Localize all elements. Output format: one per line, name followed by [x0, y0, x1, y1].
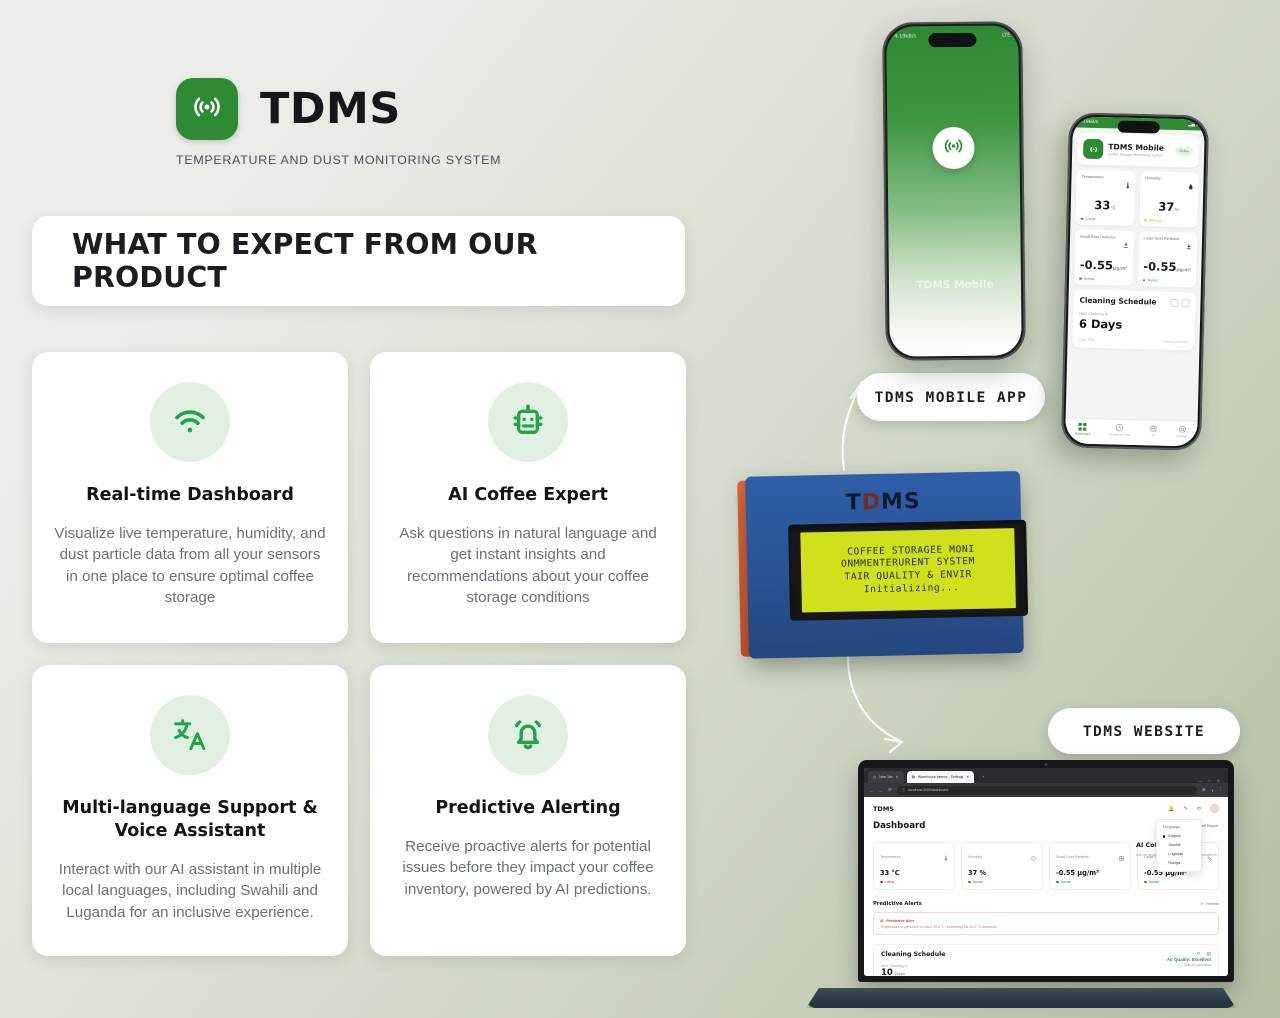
metric-label: Large Dust Particles	[1144, 236, 1180, 241]
window-controls[interactable]: — □ ✕	[1198, 778, 1224, 783]
close-window-icon[interactable]: ✕	[1217, 778, 1220, 783]
feature-title: Real-time Dashboard	[52, 484, 328, 507]
language-option-swahili[interactable]: Swahili	[1157, 841, 1201, 850]
metric-status: Critical	[880, 880, 948, 884]
metric-card-small-dust[interactable]: Small Dust Particles -0.55µg/m³ Normal	[1074, 230, 1134, 286]
statusbar-left: 4.19kB/s	[894, 33, 916, 39]
brand-name: TDMS	[260, 84, 401, 134]
metric-status: Normal	[1079, 277, 1128, 282]
menu-icon[interactable]: ⋮	[1219, 787, 1224, 793]
nav-item-settings[interactable]: Settings	[1176, 425, 1188, 438]
site-cleaning-schedule: Cleaning Schedule Next Cleaning In 10Day…	[873, 944, 1219, 976]
phone-notch	[1118, 121, 1160, 134]
bottom-nav: Dashboard Historical Data AI Settings	[1065, 417, 1198, 446]
alert-detail: Temperature is predicted to reach 35.8 °…	[880, 925, 1212, 929]
language-dropdown-title: Language	[1157, 824, 1201, 832]
tab-label: Warehouse Interior - Settings	[918, 775, 963, 779]
feature-description: Visualize live temperature, humidity, an…	[52, 523, 328, 609]
nav-item-historical-data[interactable]: Historical Data	[1109, 423, 1129, 436]
plus-icon: +	[982, 775, 984, 779]
brand-block: TDMS TEMPERATURE AND DUST MONITORING SYS…	[176, 78, 501, 167]
feature-description: Interact with our AI assistant in multip…	[52, 859, 328, 924]
page-icon: ▤	[912, 775, 915, 779]
bell-alert-icon	[488, 695, 568, 775]
back-icon[interactable]: ←	[869, 788, 874, 793]
phone-mockup-dashboard: 4.19kB/s ▂▄ ▮ TDMS Mobile Coffee Storage…	[1061, 112, 1209, 450]
url-input[interactable]: ⓘ localhost:3000/dashboard	[897, 786, 1197, 795]
dust-icon	[1186, 237, 1192, 255]
hardware-device-mockup: TDMS COFFEE STORAGEE MONI ONMMENTERURENT…	[727, 471, 1024, 659]
metric-status: Normal	[968, 880, 1036, 884]
feature-title: Predictive Alerting	[390, 797, 666, 820]
cleaning-foot-right: Sensors 1/4/2025	[1163, 340, 1188, 345]
feature-description: Receive proactive alerts for potential i…	[390, 836, 666, 901]
metric-label: Small Dust Particles	[1080, 235, 1116, 240]
metric-status: Warning	[1144, 218, 1193, 223]
thermometer-icon	[1125, 176, 1130, 194]
thermometer-icon	[944, 848, 948, 866]
bell-icon[interactable]: 🔔	[1168, 806, 1174, 812]
wifi-icon	[150, 382, 230, 462]
robot-icon	[488, 382, 568, 462]
feature-card-real-time-dashboard[interactable]: Real-time Dashboard Visualize live tempe…	[32, 352, 348, 643]
language-dropdown[interactable]: Language English Swahili Luganda Rukiga	[1156, 819, 1202, 872]
lcd-line-4: Initializing...	[845, 582, 973, 597]
cleaning-days: 10Days	[881, 968, 1123, 976]
browser-tabstrip: ◷ New Tab ✕ ▤ Warehouse Interior - Setti…	[864, 768, 1228, 783]
warning-icon: ⚠	[880, 918, 883, 923]
metric-status: Normal	[1144, 880, 1212, 884]
edit-icon[interactable]	[1181, 299, 1189, 307]
feature-card-multi-language-support[interactable]: Multi-language Support & Voice Assistant…	[32, 665, 348, 956]
site-brand: TDMS	[873, 805, 894, 813]
feature-card-grid: Real-time Dashboard Visualize live tempe…	[32, 352, 686, 956]
maximize-icon[interactable]: □	[1208, 778, 1210, 783]
page-title: WHAT TO EXPECT FROM OUR PRODUCT	[72, 228, 685, 294]
arrow-device-to-website	[830, 650, 930, 765]
language-option-rukiga[interactable]: Rukiga	[1157, 858, 1201, 867]
clock-icon: ◷	[873, 775, 876, 779]
site-metric-humidity[interactable]: Humidity 37 % Normal	[961, 842, 1043, 890]
label-tdms-website: TDMS WEBSITE	[1048, 708, 1240, 754]
feature-card-ai-coffee-expert[interactable]: AI Coffee Expert Ask questions in natura…	[370, 352, 686, 643]
phone-mockup-splash: 4.19kB/s LTE TDMS Mobile	[882, 21, 1026, 360]
new-tab-button[interactable]: +	[977, 771, 989, 783]
profile-icon[interactable]: ◑	[1211, 788, 1214, 793]
nav-label: Dashboard	[1075, 432, 1090, 436]
metric-label: Humidity	[968, 855, 982, 859]
statusbar-left: 4.19kB/s	[1079, 120, 1098, 125]
reload-icon[interactable]: ⟳	[888, 787, 892, 793]
label-tdms-mobile-app: TDMS MOBILE APP	[857, 373, 1045, 421]
laptop-lid: ◷ New Tab ✕ ▤ Warehouse Interior - Setti…	[858, 760, 1234, 982]
phone-splash-screen: 4.19kB/s LTE TDMS Mobile	[886, 25, 1021, 356]
metric-card-large-dust[interactable]: Large Dust Particles -0.55µg/m³ Normal	[1137, 231, 1197, 287]
nav-item-dashboard[interactable]: Dashboard	[1075, 423, 1090, 436]
metric-status: Critical	[1080, 217, 1129, 222]
close-icon[interactable]: ✕	[966, 775, 969, 779]
device-enclosure: TDMS COFFEE STORAGEE MONI ONMMENTERURENT…	[745, 471, 1024, 659]
site-header: TDMS 🔔 ✎ ⟲	[873, 804, 1219, 813]
phone-notch	[928, 33, 976, 48]
metric-value: -0.55 µg/m³	[1056, 869, 1124, 877]
feature-description: Ask questions in natural language and ge…	[390, 523, 666, 609]
brand-subtitle: TEMPERATURE AND DUST MONITORING SYSTEM	[176, 153, 501, 167]
metric-value: 33 °C	[880, 869, 948, 877]
browser-tab-active[interactable]: ▤ Warehouse Interior - Settings ✕	[907, 771, 975, 783]
cleaning-schedule-card[interactable]: Cleaning Schedule Next Cleaning In 6 Day…	[1072, 290, 1195, 351]
lcd-bezel: COFFEE STORAGEE MONI ONMMENTERURENT SYST…	[788, 520, 1028, 621]
feature-card-predictive-alerting[interactable]: Predictive Alerting Receive proactive al…	[370, 665, 686, 956]
tdms-logo-tile	[176, 78, 238, 140]
metric-grid: Temperature 33°C Critical Humidity	[1074, 170, 1199, 288]
language-icon[interactable]: ⟲	[1197, 806, 1201, 812]
droplet-icon	[1031, 848, 1036, 866]
feature-title: AI Coffee Expert	[390, 484, 666, 507]
phone-app-body: TDMS Mobile Coffee Storage Monitoring Sy…	[1067, 127, 1204, 355]
laptop-screen: ◷ New Tab ✕ ▤ Warehouse Interior - Setti…	[864, 768, 1228, 976]
forward-icon[interactable]: →	[879, 788, 884, 793]
section-banner: WHAT TO EXPECT FROM OUR PRODUCT	[32, 216, 685, 306]
signal-broadcast-icon	[942, 134, 964, 161]
avatar[interactable]	[1210, 804, 1219, 813]
splash-app-icon	[932, 127, 974, 169]
minimize-icon[interactable]: —	[1198, 778, 1202, 783]
info-icon: ⓘ	[902, 788, 906, 793]
splash-app-name: TDMS Mobile	[889, 278, 1021, 291]
metric-value: -0.55µg/m³	[1143, 259, 1192, 274]
translate-icon	[150, 695, 230, 775]
refresh-icon: ⟳	[1200, 902, 1203, 906]
metric-card-humidity[interactable]: Humidity 37% Warning	[1139, 171, 1199, 227]
device-logo: TDMS	[745, 487, 1020, 518]
cleaning-foot-left: Clean PM2	[1079, 338, 1095, 342]
metric-value: -0.55µg/m³	[1079, 258, 1128, 273]
air-quality-subtext: Dust Accumulation	[1123, 963, 1211, 967]
lcd-screen: COFFEE STORAGEE MONI ONMMENTERURENT SYST…	[800, 528, 1016, 612]
calendar-icon[interactable]	[1170, 298, 1178, 306]
cleaning-title: Cleaning Schedule	[1079, 296, 1156, 307]
refresh-button[interactable]: ⟳ Refresh	[1200, 902, 1219, 906]
url-text: localhost:3000/dashboard	[908, 788, 948, 792]
metric-label: Small Dust Particles	[1056, 855, 1089, 859]
dust-icon	[1122, 236, 1128, 254]
app-title: TDMS Mobile	[1108, 142, 1170, 153]
close-icon[interactable]: ✕	[896, 775, 899, 779]
nav-label: Historical Data	[1109, 432, 1129, 436]
predictive-alert-item: ⚠Predictive Alert Temperature is predict…	[873, 912, 1219, 935]
metric-status: Normal	[1056, 880, 1124, 884]
browser-tab-new[interactable]: ◷ New Tab ✕	[868, 771, 904, 783]
site-actions: 🔔 ✎ ⟲	[1168, 804, 1219, 813]
status-badge: Online	[1175, 147, 1193, 155]
laptop-mockup: ◷ New Tab ✕ ▤ Warehouse Interior - Setti…	[806, 760, 1236, 1008]
nav-item-ai[interactable]: AI	[1149, 424, 1157, 437]
cleaning-days: 6 Days	[1079, 317, 1189, 334]
poster-canvas: TDMS TEMPERATURE AND DUST MONITORING SYS…	[0, 0, 1280, 1018]
extensions-icon[interactable]: ⊕	[1202, 787, 1206, 793]
metric-value: 37 %	[968, 869, 1036, 877]
phone-app-screen: 4.19kB/s ▂▄ ▮ TDMS Mobile Coffee Storage…	[1065, 116, 1205, 446]
air-quality-status: Air Quality: Excellent	[1123, 957, 1211, 962]
nav-label: Settings	[1176, 434, 1187, 438]
cleaning-title: Cleaning Schedule	[881, 951, 1123, 958]
feature-title: Multi-language Support & Voice Assistant	[52, 797, 328, 843]
site-metric-temperature[interactable]: Temperature 33 °C Critical	[873, 842, 955, 890]
laptop-base	[806, 988, 1236, 1008]
grid-dust-icon	[1119, 848, 1124, 866]
metric-status: Normal	[1142, 278, 1191, 283]
predictive-alerts-header: Predictive Alerts ⟳ Refresh	[873, 901, 1219, 907]
nav-label: AI	[1149, 433, 1157, 437]
tdms-web-dashboard: TDMS 🔔 ✎ ⟲ Dashboard Download Report Lan…	[864, 797, 1228, 976]
statusbar-right: ▂▄ ▮	[1188, 122, 1199, 127]
metric-card-temperature[interactable]: Temperature 33°C Critical	[1075, 170, 1135, 226]
language-option-english[interactable]: English	[1157, 832, 1201, 841]
tab-label: New Tab	[879, 775, 893, 779]
signal-broadcast-icon	[191, 91, 223, 128]
app-logo	[1083, 139, 1103, 159]
site-metric-small-dust[interactable]: Small Dust Particles -0.55 µg/m³ Normal	[1049, 842, 1131, 890]
webcam-icon	[1045, 763, 1048, 766]
statusbar-right: LTE	[1002, 32, 1010, 38]
droplet-icon	[1188, 177, 1193, 195]
alerts-title: Predictive Alerts	[873, 901, 922, 907]
metric-label: Temperature	[1081, 175, 1103, 180]
app-header: TDMS Mobile Coffee Storage Monitoring Sy…	[1077, 133, 1200, 168]
app-subtitle: Coffee Storage Monitoring System	[1108, 152, 1170, 158]
metric-value: 33°C	[1081, 198, 1130, 213]
alert-title: ⚠Predictive Alert	[880, 918, 1212, 923]
wrench-icon[interactable]: ✎	[1184, 806, 1188, 812]
metric-label: Humidity	[1145, 176, 1161, 180]
language-option-luganda[interactable]: Luganda	[1157, 850, 1201, 859]
metric-label: Temperature	[880, 855, 901, 859]
metric-value: 37%	[1144, 199, 1193, 214]
browser-addressbar: ← → ⟳ ⓘ localhost:3000/dashboard ⊕ ◑ ⋮	[864, 783, 1228, 797]
